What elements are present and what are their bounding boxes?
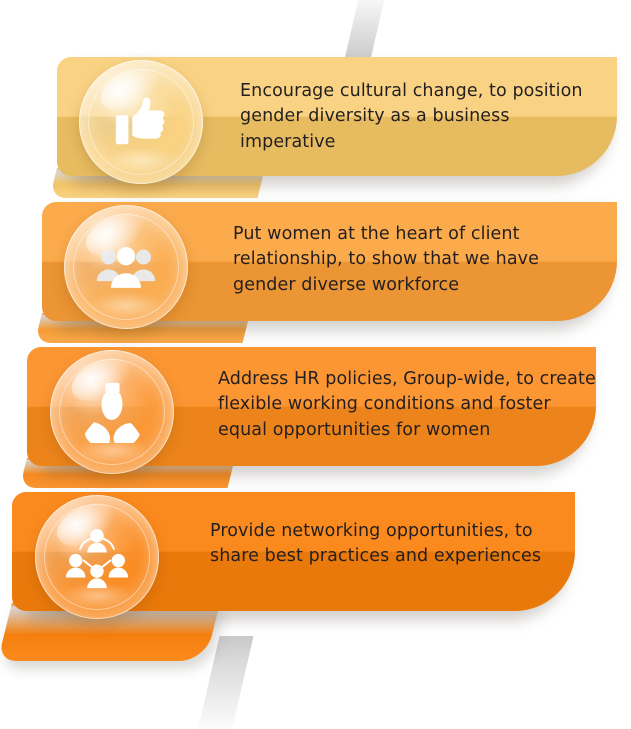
banner-2-icon-bubble <box>64 205 188 329</box>
banner-4-text: Provide networking opportunities, to sha… <box>210 519 570 570</box>
banner-3-text: Address HR policies, Group-wide, to crea… <box>218 367 596 443</box>
bubble-lower-glow <box>62 582 134 609</box>
bubble-lower-glow <box>77 437 149 464</box>
infographic-canvas: Encourage cultural change, to position g… <box>0 0 631 729</box>
banner-1-icon-bubble <box>79 60 203 184</box>
banner-2-text: Put women at the heart of client relatio… <box>233 222 593 298</box>
bottom-diagonal-shadow-streak <box>196 636 253 729</box>
banner-3-icon-bubble <box>50 350 174 474</box>
banner-4-icon-bubble <box>35 495 159 619</box>
bubble-lower-glow <box>91 292 163 319</box>
banner-1-text: Encourage cultural change, to position g… <box>240 79 585 155</box>
bubble-lower-glow <box>106 147 178 174</box>
